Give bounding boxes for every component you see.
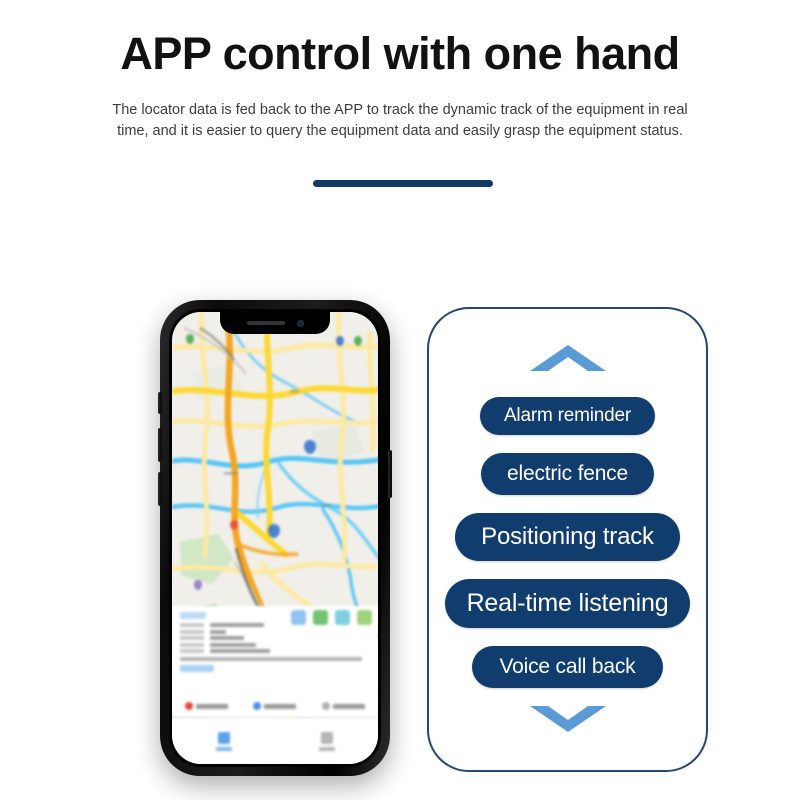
map-label: ▬▬	[322, 502, 331, 507]
street-view-icon[interactable]	[335, 610, 350, 625]
chevron-up-icon	[528, 343, 608, 373]
phone-bezel: ▬▬ ▬▬▬ ▬▬	[169, 309, 381, 767]
card-action-icons[interactable]	[291, 610, 372, 625]
feature-pill-voice-call-back[interactable]: Voice call back	[472, 646, 664, 688]
card-title-placeholder	[180, 612, 206, 619]
action-label	[196, 704, 228, 709]
card-info-value	[210, 630, 226, 634]
card-address-line	[180, 657, 362, 661]
feature-list-panel: Alarm reminder electric fence Positionin…	[427, 307, 708, 772]
phone-volume-down-button[interactable]	[158, 472, 162, 506]
card-info-value	[210, 649, 270, 653]
map-label: ▬▬	[290, 388, 299, 393]
phone-mockup: ▬▬ ▬▬▬ ▬▬	[160, 300, 390, 776]
feature-pill-stack: Alarm reminder electric fence Positionin…	[445, 397, 691, 688]
navigate-icon[interactable]	[291, 610, 306, 625]
page-subtitle: The locator data is fed back to the APP …	[100, 100, 700, 142]
nav-item-label	[319, 747, 335, 751]
action-label	[264, 704, 296, 709]
action-track[interactable]	[253, 702, 296, 710]
card-info-value	[210, 623, 264, 627]
card-info-key	[180, 636, 204, 640]
feature-pill-electric-fence[interactable]: electric fence	[481, 453, 654, 495]
profile-tab-icon	[321, 732, 333, 744]
phone-notch	[220, 312, 330, 334]
card-info-row	[180, 636, 370, 640]
location-icon[interactable]	[313, 610, 328, 625]
app-bottom-nav[interactable]	[172, 717, 378, 764]
earpiece-speaker-icon	[247, 321, 285, 325]
track-icon	[253, 702, 261, 710]
page-title: APP control with one hand	[0, 28, 800, 80]
chevron-down-icon	[528, 704, 608, 734]
action-locate[interactable]	[185, 702, 228, 710]
title-divider	[313, 180, 493, 187]
map-tab-icon	[218, 732, 230, 744]
nav-item-label	[216, 747, 232, 751]
action-label	[333, 704, 365, 709]
card-info-key	[180, 623, 204, 627]
card-info-value	[210, 636, 244, 640]
card-status-chip[interactable]	[180, 665, 214, 672]
phone-volume-up-button[interactable]	[158, 428, 162, 462]
card-info-row	[180, 643, 370, 647]
phone-mute-switch[interactable]	[158, 392, 162, 414]
feature-pill-alarm-reminder[interactable]: Alarm reminder	[480, 397, 655, 435]
card-info-value	[210, 643, 256, 647]
front-camera-icon	[297, 320, 304, 327]
card-info-row	[180, 630, 370, 634]
card-info-key	[180, 649, 204, 653]
card-action-row[interactable]	[172, 702, 378, 710]
device-info-card[interactable]	[172, 606, 378, 718]
action-more[interactable]	[322, 702, 365, 710]
feature-pill-positioning-track[interactable]: Positioning track	[455, 513, 680, 561]
nav-item-me[interactable]	[275, 718, 378, 764]
refresh-icon[interactable]	[357, 610, 372, 625]
card-info-row	[180, 649, 370, 653]
card-info-key	[180, 643, 204, 647]
more-icon	[322, 702, 330, 710]
nav-item-map[interactable]	[172, 718, 275, 764]
phone-screen: ▬▬ ▬▬▬ ▬▬	[172, 312, 378, 764]
record-icon	[185, 702, 193, 710]
card-info-key	[180, 630, 204, 634]
feature-pill-real-time-listening[interactable]: Real-time listening	[445, 579, 691, 628]
map-label: ▬▬▬	[224, 470, 238, 475]
phone-power-button[interactable]	[388, 450, 392, 498]
